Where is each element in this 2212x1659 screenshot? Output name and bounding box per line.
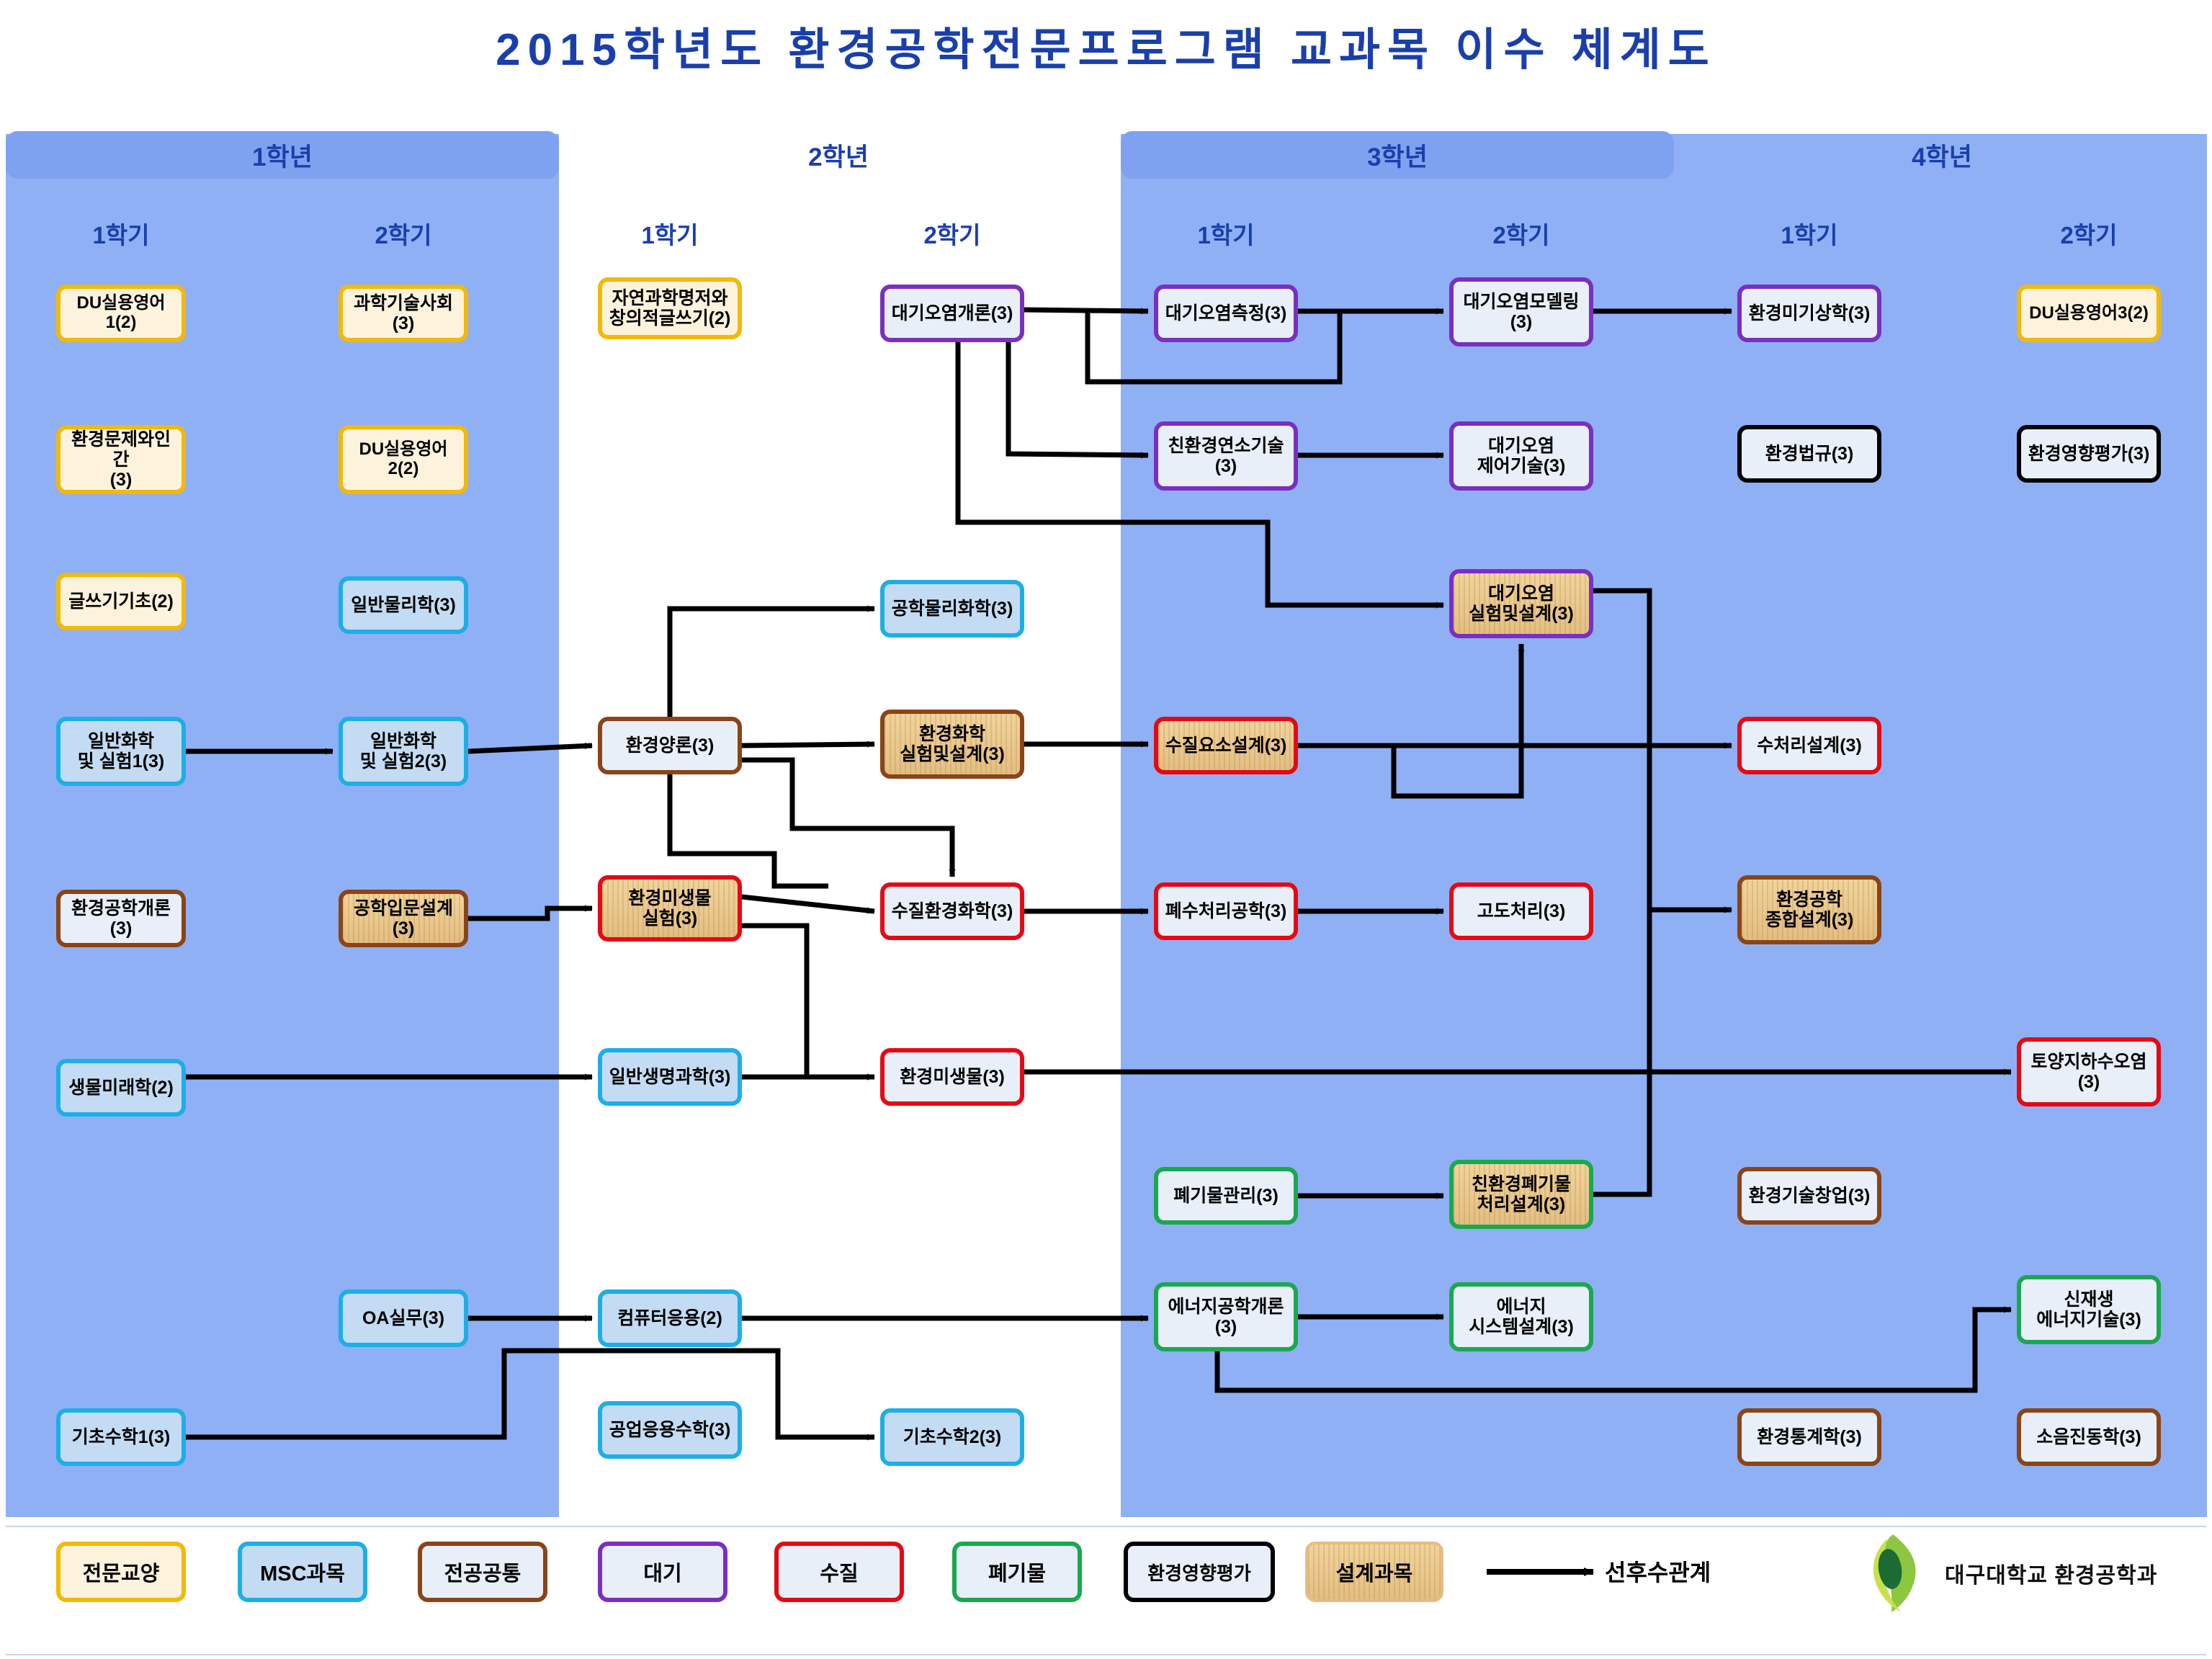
course-box[interactable]: 기초수학1(3) bbox=[56, 1408, 186, 1466]
course-box[interactable]: 기초수학2(3) bbox=[880, 1408, 1024, 1466]
year-header-label: 4학년 bbox=[1912, 137, 1972, 174]
course-box[interactable]: 일반생명과학(3) bbox=[598, 1048, 742, 1106]
course-box[interactable]: 생물미래학(2) bbox=[56, 1059, 186, 1117]
year-header-1: 1학년 bbox=[6, 131, 559, 179]
course-box[interactable]: 소음진동학(3) bbox=[2017, 1408, 2161, 1466]
course-box[interactable]: 친환경연소기술 (3) bbox=[1154, 421, 1298, 491]
course-box[interactable]: 대기오염개론(3) bbox=[880, 285, 1024, 342]
course-box[interactable]: 친환경폐기물 처리설계(3) bbox=[1449, 1160, 1593, 1229]
year-header-label: 1학년 bbox=[252, 137, 313, 174]
course-box[interactable]: 환경문제와인간 (3) bbox=[56, 425, 186, 494]
course-box[interactable]: 토양지하수오염 (3) bbox=[2017, 1037, 2161, 1106]
legend-item-daegi: 대기 bbox=[598, 1542, 727, 1602]
legend-item-hwanpyeong: 환경영향평가 bbox=[1124, 1542, 1275, 1602]
semester-label-1-1: 1학기 bbox=[49, 216, 193, 251]
legend-arrow-label: 선후수관계 bbox=[1605, 1555, 1711, 1588]
semester-label-1-2: 2학기 bbox=[331, 216, 475, 251]
year-header-2: 2학년 bbox=[562, 131, 1115, 179]
year-header-label: 3학년 bbox=[1367, 137, 1428, 174]
course-box[interactable]: 과학기술사회(3) bbox=[339, 285, 468, 342]
semester-label-2-2: 2학기 bbox=[880, 216, 1024, 251]
course-box[interactable]: DU실용영어1(2) bbox=[56, 285, 186, 342]
course-box[interactable]: 환경영향평가(3) bbox=[2017, 425, 2161, 483]
course-box[interactable]: 수처리설계(3) bbox=[1737, 717, 1881, 774]
course-box[interactable]: 환경미생물 실험(3) bbox=[598, 875, 742, 942]
year-header-3: 3학년 bbox=[1121, 131, 1674, 179]
diagram-canvas: 2015학년도 환경공학전문프로그램 교과목 이수 체계도 1학년 2학년 3학… bbox=[0, 0, 2212, 1659]
university-logo-icon bbox=[1851, 1533, 1938, 1614]
course-box[interactable]: 환경미생물(3) bbox=[880, 1048, 1024, 1106]
logo-text: 대구대학교 환경공학과 bbox=[1945, 1557, 2157, 1589]
course-box[interactable]: 환경기술창업(3) bbox=[1737, 1167, 1881, 1225]
course-box[interactable]: 폐수처리공학(3) bbox=[1154, 882, 1298, 940]
legend-item-msc: MSC과목 bbox=[238, 1542, 367, 1602]
course-box[interactable]: DU실용영어2(2) bbox=[339, 425, 468, 494]
course-box[interactable]: 일반화학 및 실험1(3) bbox=[56, 717, 186, 786]
course-box[interactable]: 대기오염 제어기술(3) bbox=[1449, 421, 1593, 491]
legend-item-sujil: 수질 bbox=[774, 1542, 904, 1602]
semester-label-4-2: 2학기 bbox=[2017, 216, 2161, 251]
course-box[interactable]: 에너지 시스템설계(3) bbox=[1449, 1282, 1593, 1351]
course-box[interactable]: 일반물리학(3) bbox=[339, 576, 468, 634]
semester-label-3-2: 2학기 bbox=[1449, 216, 1593, 251]
legend-item-gongtong: 전공공통 bbox=[418, 1542, 547, 1602]
course-box[interactable]: 공학물리화학(3) bbox=[880, 580, 1024, 638]
legend-item-design: 설계과목 bbox=[1305, 1542, 1443, 1602]
course-box[interactable]: 고도처리(3) bbox=[1449, 882, 1593, 940]
course-box[interactable]: 공업응용수학(3) bbox=[598, 1401, 742, 1459]
course-box[interactable]: 일반화학 및 실험2(3) bbox=[339, 717, 468, 786]
course-box[interactable]: 대기오염측정(3) bbox=[1154, 285, 1298, 342]
legend-item-pyegi: 폐기물 bbox=[952, 1542, 1082, 1602]
course-box[interactable]: 수질요소설계(3) bbox=[1154, 717, 1298, 774]
course-box[interactable]: 신재생 에너지기술(3) bbox=[2017, 1275, 2161, 1344]
course-box[interactable]: 에너지공학개론 (3) bbox=[1154, 1282, 1298, 1351]
page-title: 2015학년도 환경공학전문프로그램 교과목 이수 체계도 bbox=[0, 13, 2212, 78]
course-box[interactable]: 환경법규(3) bbox=[1737, 425, 1881, 483]
course-box[interactable]: 대기오염 실험및설계(3) bbox=[1449, 569, 1593, 638]
course-box[interactable]: 환경공학개론(3) bbox=[56, 890, 186, 947]
course-box[interactable]: OA실무(3) bbox=[339, 1289, 468, 1347]
course-box[interactable]: 자연과학명저와 창의적글쓰기(2) bbox=[598, 277, 742, 339]
course-box[interactable]: 공학입문설계(3) bbox=[339, 890, 468, 947]
course-box[interactable]: 환경통계학(3) bbox=[1737, 1408, 1881, 1466]
course-box[interactable]: DU실용영어3(2) bbox=[2017, 285, 2161, 342]
year-header-label: 2학년 bbox=[808, 137, 869, 174]
course-box[interactable]: 환경공학 종합설계(3) bbox=[1737, 875, 1881, 944]
course-box[interactable]: 글쓰기기초(2) bbox=[56, 573, 186, 630]
semester-label-3-1: 1학기 bbox=[1154, 216, 1298, 251]
semester-label-2-1: 1학기 bbox=[598, 216, 742, 251]
course-box[interactable]: 환경양론(3) bbox=[598, 717, 742, 774]
year-header-4: 4학년 bbox=[1677, 131, 2207, 179]
course-box[interactable]: 컴퓨터응용(2) bbox=[598, 1289, 742, 1347]
semester-label-4-1: 1학기 bbox=[1737, 216, 1881, 251]
course-box[interactable]: 환경화학 실험및설계(3) bbox=[880, 710, 1024, 779]
course-box[interactable]: 환경미기상학(3) bbox=[1737, 285, 1881, 342]
course-box[interactable]: 수질환경화학(3) bbox=[880, 882, 1024, 940]
course-box[interactable]: 대기오염모델링 (3) bbox=[1449, 277, 1593, 346]
prerequisite-arrow-icon bbox=[1485, 1562, 1600, 1582]
legend-item-gyoyang: 전문교양 bbox=[56, 1542, 186, 1602]
course-box[interactable]: 폐기물관리(3) bbox=[1154, 1167, 1298, 1225]
